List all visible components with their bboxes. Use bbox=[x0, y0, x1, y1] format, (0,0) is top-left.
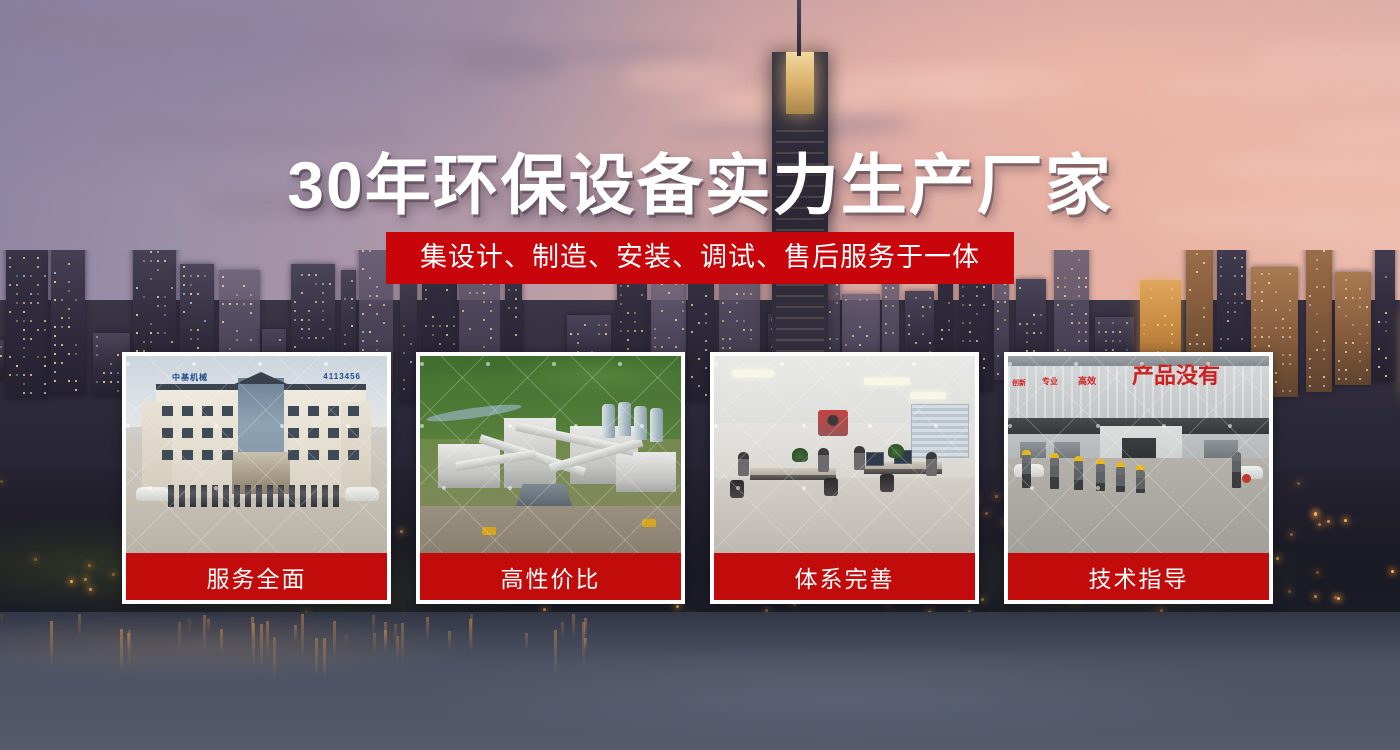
feature-card-list: 中基机械 4113456 服务全面 bbox=[122, 352, 1276, 604]
tower-spire bbox=[797, 0, 801, 56]
card-photo-industrial-plant bbox=[420, 356, 681, 553]
page-title: 30年环保设备实力生产厂家 bbox=[0, 132, 1400, 228]
card-label: 技术指导 bbox=[1008, 553, 1269, 600]
card-label: 高性价比 bbox=[420, 553, 681, 600]
factory-slogan-big: 产品没有 bbox=[1132, 358, 1220, 390]
card-photo-company-building: 中基机械 4113456 bbox=[126, 356, 387, 553]
feature-card[interactable]: 高性价比 bbox=[416, 352, 685, 604]
hero-banner: 30年环保设备实力生产厂家 集设计、制造、安装、调试、售后服务于一体 bbox=[0, 0, 1400, 750]
factory-slogan-2: 专业 bbox=[1042, 376, 1058, 387]
card-label: 体系完善 bbox=[714, 553, 975, 600]
feature-card[interactable]: 中基机械 4113456 服务全面 bbox=[122, 352, 391, 604]
card-photo-office-interior bbox=[714, 356, 975, 553]
feature-card[interactable]: 体系完善 bbox=[710, 352, 979, 604]
subtitle-container: 集设计、制造、安装、调试、售后服务于一体 bbox=[0, 232, 1400, 284]
building-sign-text: 中基机械 bbox=[172, 372, 208, 383]
subtitle-banner: 集设计、制造、安装、调试、售后服务于一体 bbox=[386, 232, 1014, 284]
factory-slogan-1: 创新 bbox=[1012, 378, 1026, 388]
feature-card[interactable]: 创新 专业 高效 产品没有 bbox=[1004, 352, 1273, 604]
card-label: 服务全面 bbox=[126, 553, 387, 600]
water-reflections bbox=[0, 612, 1400, 750]
card-photo-worker-briefing: 创新 专业 高效 产品没有 bbox=[1008, 356, 1269, 553]
tower-crown-light bbox=[786, 52, 814, 114]
building-phone-text: 4113456 bbox=[323, 372, 361, 381]
factory-slogan-3: 高效 bbox=[1078, 374, 1096, 387]
